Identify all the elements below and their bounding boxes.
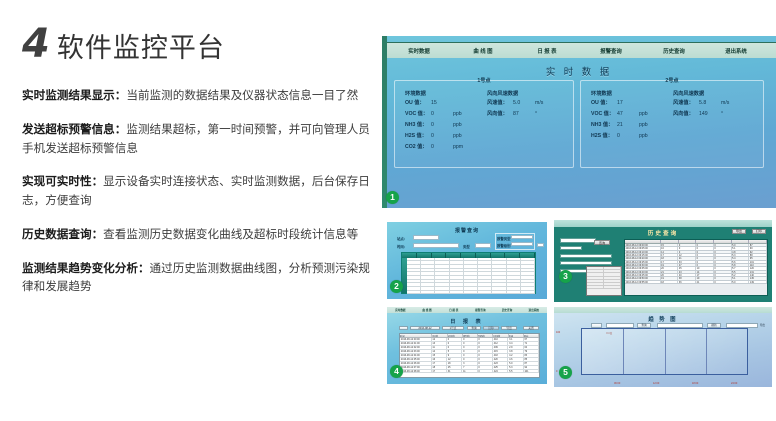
table-cell (464, 280, 478, 283)
table-cell: 2016-08-12 01:00 (400, 342, 432, 345)
table-cell: 0 (714, 281, 732, 283)
table-cell: 149 (749, 281, 767, 283)
table-cell: 0 (696, 244, 714, 246)
table-cell (507, 287, 521, 290)
badge-3: 3 (559, 270, 572, 283)
content-column: 4 软件监控平台 实时监测结果显示：当前监测的数据结果及仪器状态信息一目了然发送… (22, 24, 380, 404)
table-cell: 0 (714, 244, 732, 246)
table-cell (507, 283, 521, 286)
table-cell: 0 (478, 362, 493, 365)
bullet-body: 当前监测的数据结果及仪器状态信息一目了然 (126, 89, 358, 102)
menu-item-4[interactable]: 历史查询 (494, 308, 521, 312)
table-cell: 16 (661, 247, 679, 249)
table-cell (521, 287, 535, 290)
table-cell (407, 269, 421, 272)
wind-val: 149 (699, 111, 721, 117)
table-cell: 11 (432, 346, 447, 349)
query-button[interactable]: 查询 (467, 326, 481, 330)
slide-title: 软件监控平台 (57, 26, 225, 65)
column-header[interactable] (696, 240, 714, 243)
measure-lbl: VOC 值： (405, 110, 431, 117)
table-cell (478, 283, 492, 286)
wind-unit: ° (535, 111, 551, 117)
table-cell: 5.4 (732, 257, 750, 259)
table-cell: 4.2 (508, 354, 523, 357)
measure-val: 0 (431, 144, 453, 150)
query-button[interactable]: 查询 (594, 240, 610, 245)
table-cell: 418 (493, 354, 508, 357)
daily-report-body[interactable]: 2016-08-12 00:00120004103.1672016-08-12 … (400, 338, 539, 373)
measure-lbl: OU 值： (405, 99, 431, 106)
table-cell: 423 (493, 362, 508, 365)
table-cell: 0 (678, 244, 696, 246)
table-cell: 0 (714, 247, 732, 249)
station-select[interactable] (413, 235, 439, 240)
slide-number: 4 (22, 24, 49, 64)
table-cell: 11 (462, 370, 477, 373)
menu-item-1[interactable]: 曲 线 图 (414, 308, 441, 312)
station-select[interactable] (560, 238, 596, 243)
screenshot-gallery: 实时数据 曲 线 图 日 报 表 报警查询 历史查询 退出系统 实 时 数 据 … (382, 0, 776, 421)
table-cell: 425 (493, 366, 508, 369)
table-cell: 0 (478, 370, 493, 373)
measure-row: NH3 值：21ppb (591, 121, 655, 128)
table-cell: 0 (462, 342, 477, 345)
bullet-lead: 历史数据查询： (22, 228, 103, 241)
table-cell (464, 261, 478, 264)
table-cell (507, 258, 521, 261)
measure-lbl: OU 值： (591, 99, 617, 106)
table-cell: 2016-08-12 09:25:00 (625, 261, 661, 263)
table-cell: 412 (493, 342, 508, 345)
menu-item-history-query[interactable]: 历史查询 (643, 47, 705, 55)
measure-row: VOC 值：0ppb (405, 110, 469, 117)
measure-val: 17 (617, 100, 639, 106)
column-header[interactable] (749, 240, 767, 243)
x-axis-label-3: 18:00 (692, 382, 698, 385)
window-left-edge (382, 36, 387, 208)
table-cell: 5.7 (732, 267, 750, 269)
table-cell: 15 (432, 354, 447, 357)
station-panel-1: 1号点环境数据风向风速数据OU 值：15VOC 值：0ppbNH3 值：0ppb… (394, 80, 574, 168)
time-range-input[interactable] (413, 243, 459, 248)
table-cell: 2016-08-12 09:10:00 (625, 251, 661, 253)
label-time: 时间： (397, 244, 407, 249)
measure-val: 21 (617, 122, 639, 128)
table-cell: 0 (714, 251, 732, 253)
table-cell: 2016-08-12 09:45:00 (625, 274, 661, 276)
measure-val: 0 (617, 133, 639, 139)
menu-item-exit[interactable]: 退出系统 (705, 47, 767, 55)
table-cell: 131 (749, 271, 767, 273)
table-cell: 3.1 (508, 338, 523, 341)
table-cell (521, 291, 535, 294)
table-cell (450, 280, 464, 283)
table-cell: 33 (678, 261, 696, 263)
table-cell: 0 (714, 274, 732, 276)
table-cell: 2016-08-12 09:30:00 (625, 264, 661, 266)
table-row[interactable]: 2016-08-12 09:55:0018362105.0149 (625, 281, 767, 284)
table-cell (464, 265, 478, 268)
table-cell: 2016-08-12 07:00 (400, 366, 432, 369)
x-axis-label-1: 06:00 (614, 382, 620, 385)
table-cell: 0 (714, 261, 732, 263)
table-cell: 2016-08-12 09:55:00 (625, 281, 661, 283)
table-cell (450, 287, 464, 290)
table-cell: 5.8 (732, 264, 750, 266)
table-cell: 20 (661, 274, 679, 276)
column-header[interactable]: 风向 (524, 334, 539, 337)
table-cell: 409 (493, 346, 508, 349)
table-cell (435, 280, 449, 283)
end-time-input[interactable] (560, 261, 612, 265)
table-cell (492, 258, 506, 261)
table-cell (450, 258, 464, 261)
table-cell (507, 265, 521, 268)
table-cell (407, 280, 421, 283)
menu-item-2[interactable]: 日 报 表 (440, 308, 467, 312)
table-cell (492, 269, 506, 272)
table-cell: 71 (524, 342, 539, 345)
date-input[interactable] (657, 323, 703, 328)
table-cell: 5 (447, 350, 462, 353)
bullet-lead: 发送超标预警信息： (22, 123, 126, 136)
station-select[interactable]: 1号点 (442, 326, 464, 330)
date-label (399, 326, 408, 330)
table-cell: 5.3 (732, 254, 750, 256)
trend-chart-heading: 趋 势 图 (554, 315, 772, 323)
column-header[interactable] (625, 240, 661, 243)
export-button[interactable]: 导出 (757, 323, 768, 328)
table-cell (507, 276, 521, 279)
badge-1: 1 (386, 191, 399, 204)
table-cell (421, 258, 435, 261)
refresh-button[interactable]: 刷新 (707, 323, 721, 328)
table-cell (450, 276, 464, 279)
table-cell: 92 (749, 251, 767, 253)
table-cell: 0 (714, 267, 732, 269)
table-cell: 18 (661, 281, 679, 283)
daily-report-table[interactable]: 时间OU值VOC值NH3值H2S值CO2值风速风向 2016-08-12 00:… (399, 333, 540, 378)
table-cell: 19 (696, 277, 714, 279)
table-cell: 2016-08-12 09:40:00 (625, 271, 661, 273)
table-cell (521, 261, 535, 264)
table-cell: 420 (493, 358, 508, 361)
column-header[interactable]: 时间 (400, 334, 432, 337)
print-button[interactable]: 打印 (483, 326, 499, 330)
screenshot-trend-chart[interactable]: 趋 势 图 查询 刷新 导出 OU值 100 0 06:00 12:00 18:… (554, 307, 772, 387)
menu-item-0[interactable]: 实时数据 (387, 308, 414, 312)
measure-unit: ppb (453, 122, 469, 128)
table-cell (521, 269, 535, 272)
chart-plot-area (581, 328, 748, 375)
table-cell: 2016-08-12 05:00 (400, 358, 432, 361)
query-button[interactable] (537, 243, 544, 247)
menu-item-realtime[interactable]: 实时数据 (387, 47, 451, 55)
screenshot-history-query[interactable]: 历史查询 导出 打印 查询 2016- (554, 220, 772, 302)
measure-row: H2S 值：0ppb (591, 132, 655, 139)
measure-lbl: CO2 值： (405, 143, 431, 150)
table-cell: 2016-08-12 04:00 (400, 354, 432, 357)
table-cell: 0 (478, 342, 493, 345)
table-cell: 17 (661, 254, 679, 256)
station-title: 1号点 (395, 77, 573, 84)
column-header[interactable] (679, 240, 697, 243)
table-cell (492, 291, 506, 294)
table-cell: 0 (696, 257, 714, 259)
table-cell: 0 (462, 346, 477, 349)
menu-bar[interactable]: 实时数据 曲 线 图 日 报 表 报警查询 历史查询 退出系统 (387, 42, 776, 58)
label-alarm-type: 报警类型 (497, 236, 511, 241)
table-cell: 2016-08-12 08:00 (400, 370, 432, 373)
screenshot-realtime-data[interactable]: 实时数据 曲 线 图 日 报 表 报警查询 历史查询 退出系统 实 时 数 据 … (382, 36, 776, 208)
date-input[interactable]: 2016-08-12 (410, 326, 440, 330)
wind-val: 5.8 (699, 100, 721, 106)
table-cell: 25 (447, 366, 462, 369)
table-cell: 410 (493, 338, 508, 341)
table-cell: 0 (462, 350, 477, 353)
table-cell (421, 265, 435, 268)
bullet-1: 实时监测结果显示：当前监测的数据结果及仪器状态信息一目了然 (22, 87, 380, 106)
menu-bar[interactable]: 实时数据曲 线 图日 报 表报警查询历史查询退出系统 (387, 307, 547, 313)
table-cell: 2016-08-12 00:00 (400, 338, 432, 341)
history-table-body[interactable]: 2016-08-12 09:00:00150005.0872016-08-12 … (625, 244, 767, 284)
column-header[interactable]: OU值 (432, 334, 447, 337)
table-cell: 3.8 (508, 350, 523, 353)
table-cell (407, 265, 421, 268)
table-cell (507, 291, 521, 294)
table-cell: 0 (478, 346, 493, 349)
table-cell (435, 261, 449, 264)
table-row[interactable] (407, 291, 535, 295)
wind-lbl: 风速值： (673, 99, 699, 106)
table-cell: 9 (447, 354, 462, 357)
table-cell (450, 291, 464, 294)
table-cell (435, 272, 449, 275)
table-cell (450, 265, 464, 268)
measure-row: VOC 值：47ppb (591, 110, 655, 117)
table-cell: 0 (696, 251, 714, 253)
table-cell: 0 (696, 264, 714, 266)
table-cell: 0 (714, 254, 732, 256)
table-cell: 0 (462, 358, 477, 361)
wind-unit: m/s (721, 100, 737, 106)
table-cell: 47 (678, 264, 696, 266)
bullet-lead: 实时监测结果显示： (22, 89, 126, 102)
data-type-select[interactable] (560, 246, 582, 250)
wind-row: 风速值：5.0m/s (487, 99, 551, 106)
measure-lbl: VOC 值： (591, 110, 617, 117)
table-cell: 2.9 (508, 346, 523, 349)
table-cell (407, 272, 421, 275)
table-cell: 2016-08-12 02:00 (400, 346, 432, 349)
select-button[interactable] (591, 323, 602, 328)
table-cell: 0 (478, 350, 493, 353)
label-station: 站点： (397, 236, 407, 241)
column-header[interactable]: H2S值 (478, 334, 493, 337)
table-cell (421, 276, 435, 279)
print-button[interactable]: 打印 (752, 229, 766, 234)
table-cell: 40 (678, 274, 696, 276)
table-cell: 0 (714, 271, 732, 273)
table-cell: 36 (678, 281, 696, 283)
label-type: 类型 (463, 244, 470, 249)
column-header[interactable] (714, 240, 732, 243)
table-cell (507, 272, 521, 275)
table-cell: 0 (447, 342, 462, 345)
export-button[interactable]: 导出 (501, 326, 517, 330)
screenshot-daily-report[interactable]: 实时数据曲 线 图日 报 表报警查询历史查询退出系统 日 报 表 2016-08… (387, 307, 547, 384)
table-cell: 3.4 (508, 342, 523, 345)
column-header[interactable]: NH3值 (463, 334, 478, 337)
popup-row[interactable] (587, 286, 621, 289)
table-cell (450, 272, 464, 275)
table-cell (435, 276, 449, 279)
table-cell: 67 (524, 338, 539, 341)
group-heading-wind: 风向风速数据 (487, 90, 518, 97)
menu-item-5[interactable]: 退出系统 (520, 308, 547, 312)
table-cell: 87 (524, 362, 539, 365)
column-header[interactable]: CO2值 (493, 334, 508, 337)
table-cell (407, 258, 421, 261)
slide-root: 4 软件监控平台 实时监测结果显示：当前监测的数据结果及仪器状态信息一目了然发送… (0, 0, 776, 421)
table-cell: 5.3 (508, 366, 523, 369)
table-cell: 64 (524, 346, 539, 349)
badge-2: 2 (390, 280, 403, 293)
table-cell (464, 291, 478, 294)
table-cell: 87 (749, 244, 767, 246)
table-cell: 5.2 (732, 274, 750, 276)
table-cell (421, 280, 435, 283)
alarm-type-select[interactable] (511, 235, 533, 239)
dropdown-popup[interactable] (586, 266, 622, 296)
measure-unit: ppb (453, 111, 469, 117)
menu-item-3[interactable]: 报警查询 (467, 308, 494, 312)
table-cell (421, 287, 435, 290)
table-cell: 5.5 (732, 271, 750, 273)
start-time-input[interactable] (560, 254, 612, 258)
column-header[interactable]: VOC值 (448, 334, 463, 337)
table-cell: 0 (714, 277, 732, 279)
table-cell: 17 (432, 362, 447, 365)
table-cell: 2016-08-12 09:20:00 (625, 257, 661, 259)
table-cell: 14 (432, 350, 447, 353)
screenshot-alarm-query[interactable]: 报警查询 站点： 时间： 类型 报警类型 报警级别 2 (387, 222, 547, 299)
table-cell (492, 276, 506, 279)
table-cell: 88 (749, 254, 767, 256)
alarm-level-select[interactable] (511, 242, 533, 246)
wind-row: 风速值：5.8m/s (673, 99, 737, 106)
alarm-table-body[interactable] (407, 258, 535, 294)
table-cell (478, 287, 492, 290)
table-cell: 43 (678, 271, 696, 273)
history-table[interactable]: 2016-08-12 09:00:00150005.0872016-08-12 … (624, 239, 768, 296)
column-header[interactable]: 风速 (509, 334, 524, 337)
wind-row: 风向值：87° (487, 110, 551, 117)
badge-4: 4 (390, 365, 403, 378)
alarm-table[interactable] (401, 252, 536, 294)
bullet-lead: 监测结果趋势变化分析： (22, 262, 150, 275)
measure-row: H2S 值：0ppb (405, 132, 469, 139)
table-cell: 0 (478, 354, 493, 357)
table-cell: 17 (661, 261, 679, 263)
table-cell: 5.6 (732, 261, 750, 263)
table-cell (435, 287, 449, 290)
type-select[interactable] (475, 243, 491, 248)
table-cell (478, 269, 492, 272)
measure-val: 0 (431, 122, 453, 128)
measure-row: NH3 值：0ppb (405, 121, 469, 128)
table-cell (478, 261, 492, 264)
close-button[interactable]: 关闭 (523, 326, 539, 330)
series-select[interactable] (726, 323, 758, 328)
x-axis-label-2: 12:00 (653, 382, 659, 385)
table-cell: 101 (749, 261, 767, 263)
column-header[interactable] (732, 240, 750, 243)
measure-val: 0 (431, 133, 453, 139)
column-header[interactable] (661, 240, 679, 243)
table-cell: 19 (661, 264, 679, 266)
export-button[interactable]: 导出 (732, 229, 746, 234)
menu-item-alarm-query[interactable]: 报警查询 (579, 47, 643, 55)
table-cell: 12 (678, 254, 696, 256)
table-cell (492, 287, 506, 290)
table-cell: 14 (696, 271, 714, 273)
wind-unit: ° (721, 111, 737, 117)
table-cell: 2016-08-12 09:50:00 (625, 277, 661, 279)
table-cell: 16 (432, 358, 447, 361)
table-cell (521, 265, 535, 268)
table-cell: 0 (478, 338, 493, 341)
station-select[interactable] (606, 323, 634, 328)
table-cell: 101 (524, 370, 539, 373)
table-cell: 83 (524, 354, 539, 357)
menu-item-curve[interactable]: 曲 线 图 (451, 47, 515, 55)
table-cell: 415 (493, 350, 508, 353)
table-cell: 5.1 (732, 277, 750, 279)
table-cell (464, 283, 478, 286)
table-cell: 0 (714, 264, 732, 266)
measure-unit: ppb (639, 133, 655, 139)
table-cell: 424 (493, 370, 508, 373)
table-cell (421, 261, 435, 264)
table-cell (492, 283, 506, 286)
table-cell: 85 (524, 358, 539, 361)
table-cell: 21 (696, 281, 714, 283)
menu-item-daily-report[interactable]: 日 报 表 (515, 47, 579, 55)
table-cell (407, 276, 421, 279)
table-cell: 45 (678, 267, 696, 269)
query-button[interactable]: 查询 (637, 323, 651, 328)
table-cell: 5.1 (732, 247, 750, 249)
table-cell (492, 261, 506, 264)
table-row[interactable]: 2016-08-12 08:0017311104245.5101 (400, 370, 539, 374)
table-cell: 12 (432, 338, 447, 341)
measure-row: CO2 值：0ppm (405, 143, 469, 150)
table-cell: 12 (447, 358, 462, 361)
table-cell: 0 (478, 366, 493, 369)
table-cell: 14 (661, 251, 679, 253)
wind-val: 5.0 (513, 100, 535, 106)
daily-report-heading: 日 报 表 (387, 318, 547, 325)
table-cell (478, 272, 492, 275)
measure-unit: ppb (639, 122, 655, 128)
table-cell (521, 272, 535, 275)
table-cell: 17 (696, 274, 714, 276)
table-cell: 0 (696, 254, 714, 256)
table-cell (435, 269, 449, 272)
station-title: 2号点 (581, 77, 763, 84)
